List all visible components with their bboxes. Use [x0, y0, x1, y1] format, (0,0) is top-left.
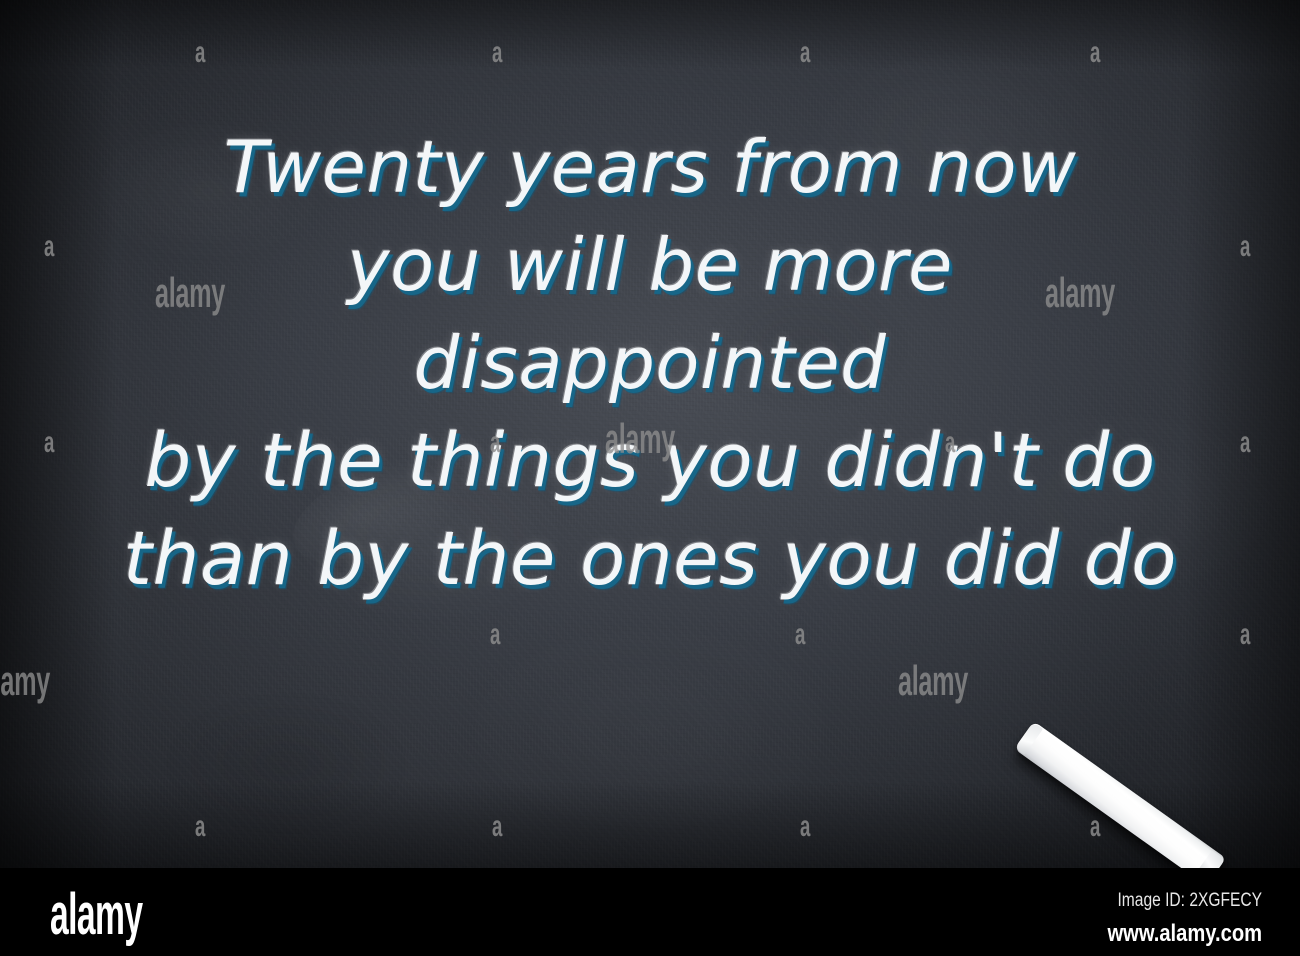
chalk-smudge: [280, 444, 479, 585]
slate-grain-texture: [0, 0, 1300, 868]
stock-footer-bar: alamy Image ID: 2XGFECY www.alamy.com: [0, 868, 1300, 956]
edge-vignette: [0, 0, 1300, 868]
blackboard-surface: [0, 0, 1300, 868]
stock-photo-frame: Twenty years from now you will be more d…: [0, 0, 1300, 956]
slate-mottling-texture: [0, 0, 1300, 868]
footer-meta: Image ID: 2XGFECY www.alamy.com: [1078, 888, 1262, 950]
image-id-label: Image ID: 2XGFECY: [1111, 888, 1262, 914]
alamy-url: www.alamy.com: [1107, 918, 1262, 950]
alamy-logo: alamy: [50, 886, 142, 944]
